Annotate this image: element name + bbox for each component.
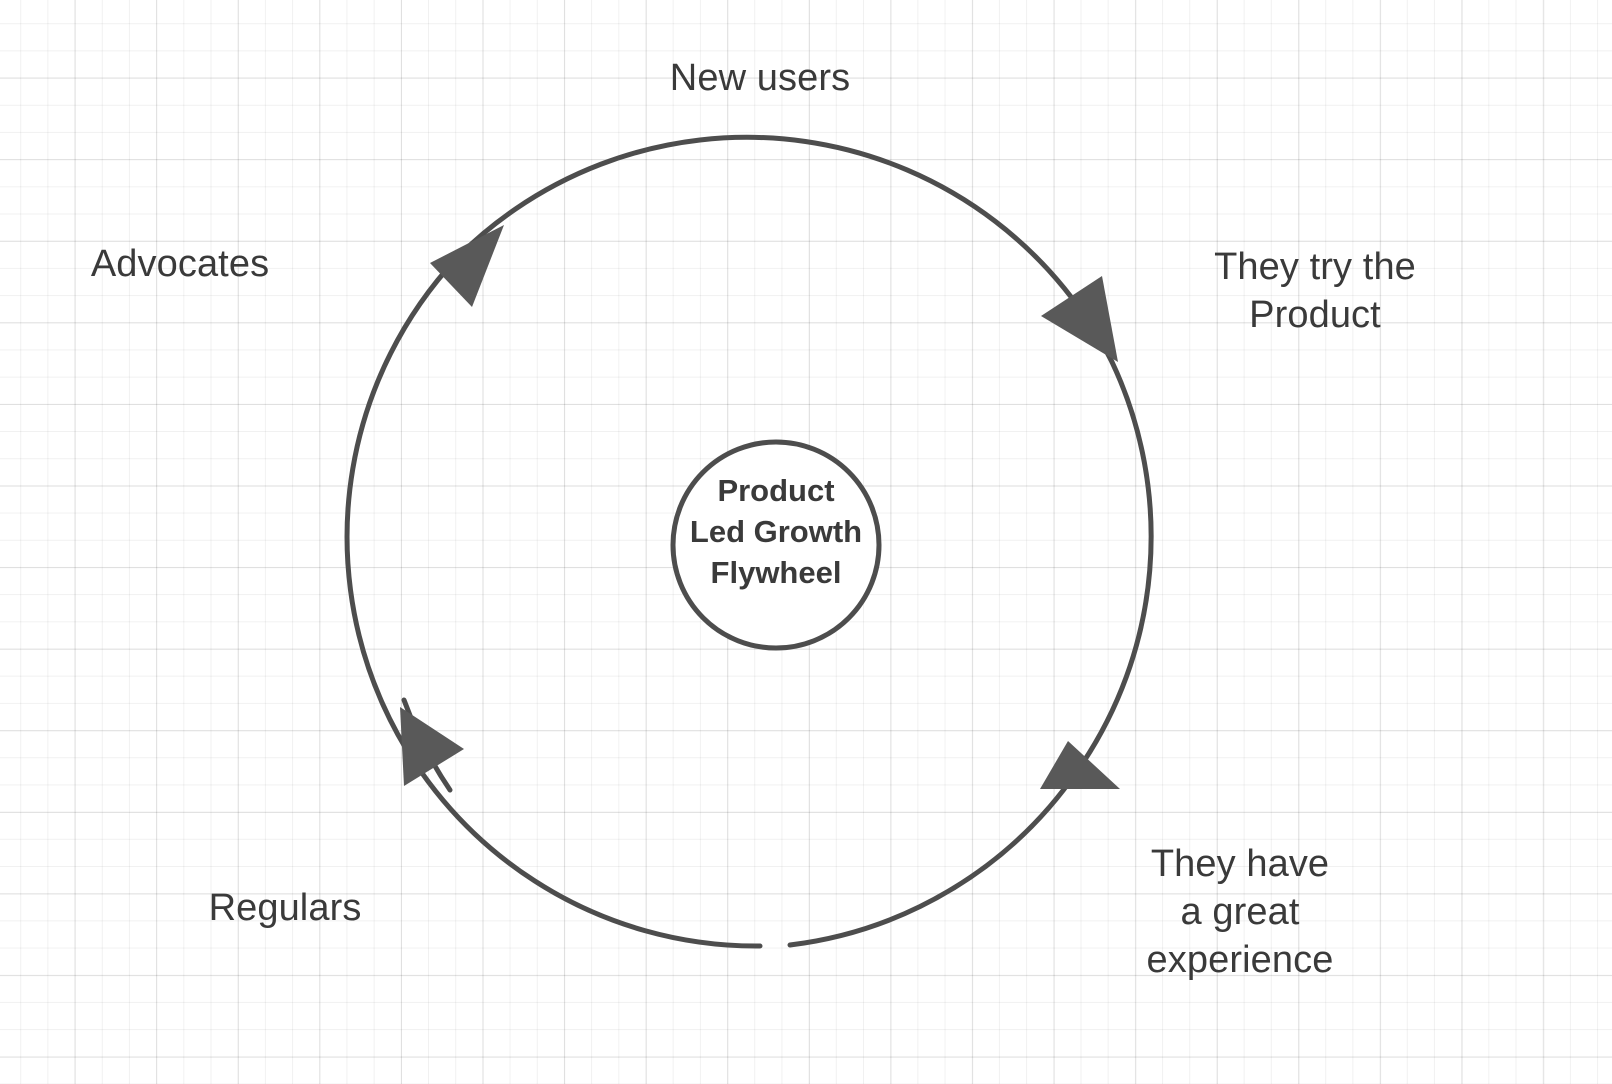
stage-label-new-users: New users (560, 54, 960, 102)
diagram-canvas: New users They try the Product They have… (0, 0, 1612, 1084)
stage-label-great-experience: They have a great experience (1075, 840, 1405, 984)
arrow-head-top-right (1041, 276, 1118, 362)
cycle-arc-right (1078, 362, 1151, 770)
cycle-arc-bottom (790, 770, 1078, 945)
arrow-head-bottom-left (400, 707, 464, 786)
stage-label-advocates: Advocates (0, 240, 370, 288)
arrow-head-top-left (430, 225, 504, 307)
cycle-arc-top (449, 137, 1112, 362)
stage-label-try-product: They try the Product (1150, 243, 1480, 339)
arrow-head-bottom-right (1040, 741, 1120, 789)
center-circle-label: Product Led Growth Flywheel (640, 470, 912, 593)
stage-label-regulars: Regulars (95, 884, 475, 932)
